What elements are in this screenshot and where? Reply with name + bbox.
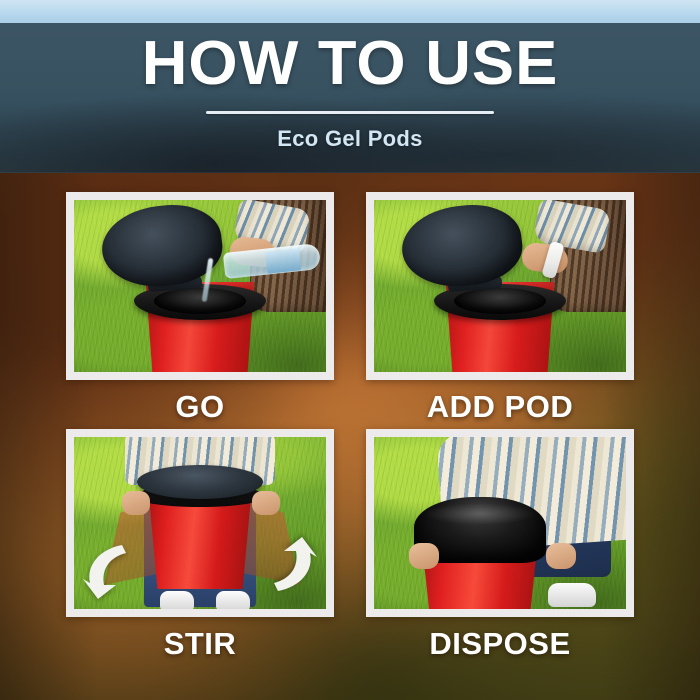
page-subtitle: Eco Gel Pods [0, 126, 700, 152]
black-bag-liner [154, 288, 246, 314]
photo-step-2 [374, 200, 626, 372]
hand-left [409, 543, 439, 569]
photo-frame-1 [66, 192, 334, 380]
photo-step-4 [374, 437, 626, 609]
infographic-canvas: HOW TO USE Eco Gel Pods [0, 0, 700, 700]
photo-step-3 [74, 437, 326, 609]
swirl-arrow-right-icon [264, 533, 322, 595]
white-shoe-right [216, 591, 250, 609]
step-card-3: STIR [66, 429, 334, 662]
step-card-1: GO [66, 192, 334, 425]
step-card-2: ADD POD [366, 192, 634, 425]
black-lid-closed [137, 465, 263, 499]
step-label-1: GO [66, 389, 334, 425]
photo-frame-2 [366, 192, 634, 380]
white-shoe [548, 583, 596, 607]
hand-left [122, 491, 150, 515]
swirl-arrow-left-icon [78, 541, 136, 603]
bottle-label [265, 248, 301, 273]
steps-grid: GO ADD POD [0, 173, 700, 700]
page-title: HOW TO USE [0, 33, 700, 95]
photo-frame-4 [366, 429, 634, 617]
black-bag-liner [454, 288, 546, 314]
sky-strip [0, 0, 700, 23]
photo-frame-3 [66, 429, 334, 617]
photo-step-1 [74, 200, 326, 372]
hand-right [546, 543, 576, 569]
step-label-2: ADD POD [366, 389, 634, 425]
title-divider [206, 111, 494, 114]
step-card-4: DISPOSE [366, 429, 634, 662]
white-shoe-left [160, 591, 194, 609]
step-label-3: STIR [66, 626, 334, 662]
hand-right [252, 491, 280, 515]
step-label-4: DISPOSE [366, 626, 634, 662]
